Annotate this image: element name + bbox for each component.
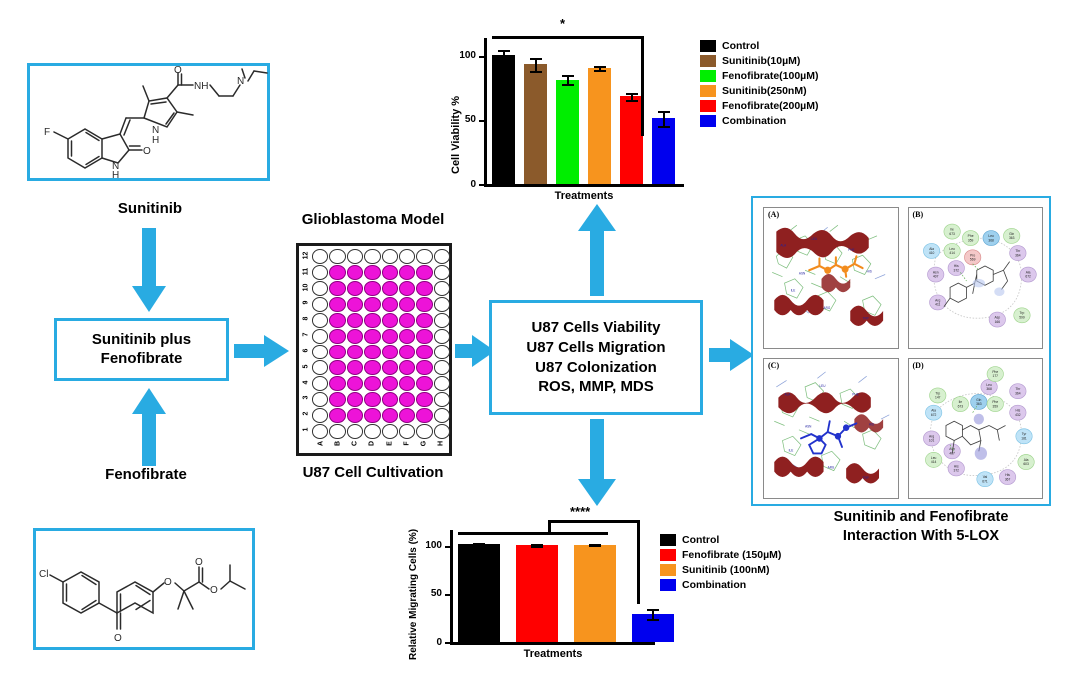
well-empty [312,281,328,296]
assay-line-1: U87 Cells Viability [526,318,665,338]
atom-label-O-oxindole: O [143,146,151,157]
svg-text:ILE: ILE [789,448,794,452]
error-cap-viability-1-1 [530,71,542,73]
fenofibrate-input-label: Fenofibrate [56,466,236,485]
migration-legend-swatch-3 [660,579,676,591]
well-empty [434,392,450,407]
well-filled [416,345,432,360]
well-filled [382,313,398,328]
viability-sig-bracket-horizontal [492,36,644,39]
atom-label-O-ether: O [164,577,172,588]
svg-text:ARG: ARG [824,306,831,310]
sunitinib-structure-svg: F O H N N H O NH N [30,66,269,180]
well-filled [364,376,380,391]
combination-box: Sunitinib plus Fenofibrate [54,318,229,381]
plate-row-label-11: 11 [303,265,310,277]
viability-legend-swatch-1 [700,55,716,67]
error-cap-migration-1-1 [531,546,543,548]
migration-sig-bracket-top [548,520,640,523]
svg-text:TRP: TRP [863,476,869,480]
docking-tag-c: (C) [768,361,779,370]
well-filled [416,360,432,375]
well-filled [347,313,363,328]
plate-col-label-G: G [421,438,428,450]
atom-label-Cl: Cl [39,569,48,580]
well-filled [382,329,398,344]
plate-row-label-2: 2 [303,408,310,420]
bar-viability-3 [588,68,611,184]
viability-legend-swatch-4 [700,100,716,112]
svg-text:359: 359 [992,404,998,408]
svg-text:ASN: ASN [799,271,806,275]
plate-row-label-12: 12 [303,249,310,261]
docking-caption: Sunitinib and Fenofibrate Interaction Wi… [786,508,1056,546]
assay-line-4: ROS, MMP, MDS [526,377,665,397]
combo-line-1: Sunitinib plus [92,331,191,350]
fenofibrate-structure-box: Cl O O O O [33,528,255,650]
migration-legend-label-1: Fenofibrate (150µM) [682,549,781,561]
well-filled [399,376,415,391]
docking-tag-b: (B) [913,210,924,219]
error-cap-viability-2-1 [562,84,574,86]
viability-legend-item-2: Fenofibrate(100µM) [700,70,818,82]
arrow-assay-to-migration-chart [578,419,616,507]
svg-text:673: 673 [949,232,955,236]
svg-text:368: 368 [986,387,992,391]
svg-text:363: 363 [1008,236,1014,240]
arrow-fenofibrate-to-combo [132,388,166,466]
well-empty [312,313,328,328]
viability-legend-swatch-3 [700,85,716,97]
plate-col-label-H: H [438,438,445,450]
well-empty [312,376,328,391]
plate-row-label-3: 3 [303,392,310,404]
svg-text:LEU: LEU [811,237,818,241]
well-filled [364,345,380,360]
error-cap-migration-3-0 [647,609,659,611]
fenofibrate-structure-svg: Cl O O O O [36,531,254,649]
well-filled [329,265,345,280]
plate-col-label-B: B [334,438,341,450]
atom-label-F: F [44,127,50,138]
well-filled [329,376,345,391]
svg-text:372: 372 [953,268,959,272]
viability-x-axis-title: Treatments [484,190,684,202]
docking-image-b: Ala410 Asn407 Arg411 Ile673 Leu414 His37… [909,208,1043,348]
arrow-assay-to-docking [709,339,755,371]
arrow-sunitinib-to-combo [132,228,166,312]
svg-text:603: 603 [1023,462,1029,466]
well-filled [347,408,363,423]
well-filled [364,313,380,328]
migration-legend: ControlFenofibrate (150µM)Sunitinib (100… [660,534,781,594]
migration-legend-item-0: Control [660,534,781,546]
svg-text:ALA: ALA [780,244,787,248]
well-empty [434,376,450,391]
migration-legend-swatch-1 [660,549,676,561]
svg-text:364: 364 [1015,391,1021,395]
svg-text:181: 181 [1021,436,1027,440]
well-empty [434,360,450,375]
well-filled [416,313,432,328]
well-empty [329,249,345,264]
migration-legend-item-1: Fenofibrate (150µM) [660,549,781,561]
viability-legend-label-2: Fenofibrate(100µM) [722,70,818,82]
svg-text:368: 368 [988,238,994,242]
well-filled [416,265,432,280]
error-cap-migration-3-1 [647,619,659,621]
sunitinib-structure-box: F O H N N H O NH N [27,63,270,181]
well-filled [399,360,415,375]
well-filled [347,392,363,407]
well-empty [416,249,432,264]
plate-caption: U87 Cell Cultivation [278,464,468,483]
svg-text:ILE: ILE [791,289,796,293]
well-empty [364,249,380,264]
bar-migration-2 [574,545,616,642]
error-cap-viability-1-0 [530,58,542,60]
well-filled [399,297,415,312]
well-empty [312,408,328,423]
docking-tag-d: (D) [913,361,924,370]
well-filled [347,281,363,296]
well-filled [347,376,363,391]
plate-row-label-7: 7 [303,329,310,341]
docking-tag-a: (A) [768,210,779,219]
svg-text:LEU: LEU [819,383,826,387]
error-cap-migration-2-1 [589,545,601,547]
svg-text:414: 414 [930,460,936,464]
atom-label-H-pyrrole: H [152,135,159,146]
atom-label-O-ester: O [210,585,218,596]
error-cap-viability-0-0 [498,50,510,52]
well-filled [347,265,363,280]
well-plate: 121110987654321 ABCDEFGH [296,243,452,456]
well-empty [312,297,328,312]
viability-legend-item-4: Fenofibrate(200µM) [700,100,818,112]
error-cap-viability-4-1 [626,100,638,102]
error-cap-migration-0-1 [473,544,485,546]
bar-viability-5 [652,118,675,184]
well-empty [347,249,363,264]
assay-box: U87 Cells ViabilityU87 Cells MigrationU8… [489,300,703,415]
docking-cell-c[interactable]: (C) [763,358,899,500]
migration-legend-swatch-0 [660,534,676,546]
well-empty [434,329,450,344]
docking-cell-a[interactable]: (A) [763,207,899,349]
viability-legend-item-0: Control [700,40,818,52]
well-filled [382,281,398,296]
well-filled [329,297,345,312]
well-filled [382,297,398,312]
error-cap-viability-4-0 [626,93,638,95]
viability-legend: ControlSunitinib(10µM)Fenofibrate(100µM)… [700,40,818,130]
docking-cell-b[interactable]: (B) Ala410 Asn407 Arg411 Ile673 Leu414 H… [908,207,1044,349]
well-filled [364,281,380,296]
bar-viability-4 [620,96,643,184]
svg-text:ALA: ALA [785,392,792,396]
error-cap-viability-0-1 [498,60,510,62]
svg-text:672: 672 [930,412,936,416]
well-filled [399,281,415,296]
svg-text:367: 367 [1004,477,1010,481]
svg-text:101: 101 [928,438,934,442]
atom-label-O-ketone: O [114,633,122,644]
well-filled [364,297,380,312]
error-cap-viability-5-1 [658,126,670,128]
plate-row-label-9: 9 [303,297,310,309]
error-bar-viability-5 [663,111,665,126]
docking-panel: (A) [751,196,1051,506]
svg-text:TRP: TRP [863,317,869,321]
svg-text:ARG: ARG [828,465,835,469]
docking-cell-d[interactable]: (D) Ala672 Trp147 Arg101 Leu414 Asn407 H… [908,358,1044,500]
well-filled [347,329,363,344]
migration-chart: Relative Migrating Cells (%) 0 50 100 **… [398,512,818,682]
migration-legend-item-2: Sunitinib (100nM) [660,564,781,576]
svg-text:407: 407 [932,275,938,279]
arrow-assay-to-viability-chart [578,204,616,296]
viability-legend-label-1: Sunitinib(10µM) [722,55,800,67]
error-cap-viability-5-0 [658,111,670,113]
migration-legend-item-3: Combination [660,579,781,591]
svg-text:410: 410 [928,251,934,255]
well-empty [434,249,450,264]
well-empty [434,265,450,280]
plate-row-label-10: 10 [303,281,310,293]
well-filled [382,345,398,360]
well-filled [399,329,415,344]
bar-viability-0 [492,55,515,184]
well-filled [382,392,398,407]
well-empty [312,360,328,375]
well-empty [434,345,450,360]
plate-row-label-5: 5 [303,360,310,372]
well-filled [347,297,363,312]
docking-image-d: Ala672 Trp147 Arg101 Leu414 Asn407 His37… [909,359,1043,499]
well-empty [312,345,328,360]
plate-col-label-D: D [369,438,376,450]
svg-text:166: 166 [994,320,1000,324]
atom-label-N-oxindole: N [112,161,119,172]
well-filled [364,329,380,344]
error-cap-viability-3-0 [594,66,606,68]
well-empty [382,249,398,264]
migration-significance-label: **** [570,504,590,519]
svg-text:372: 372 [953,468,959,472]
plate-col-label-C: C [352,438,359,450]
arrow-combo-to-plate [234,335,290,367]
svg-text:ASN: ASN [805,424,812,428]
well-filled [364,408,380,423]
svg-text:671: 671 [982,479,988,483]
svg-text:359: 359 [967,238,973,242]
viability-legend-label-0: Control [722,40,759,52]
well-empty [312,392,328,407]
well-filled [382,360,398,375]
viability-legend-swatch-2 [700,70,716,82]
well-filled [416,376,432,391]
atom-label-O-amide: O [174,66,182,76]
viability-sig-bracket-vertical [641,36,644,136]
well-filled [416,281,432,296]
plate-col-label-F: F [403,438,410,450]
well-filled [416,392,432,407]
viability-legend-item-1: Sunitinib(10µM) [700,55,818,67]
bar-migration-1 [516,545,558,642]
migration-legend-label-3: Combination [682,579,746,591]
well-filled [329,345,345,360]
bar-viability-1 [524,64,547,184]
viability-legend-item-3: Sunitinib(250nM) [700,85,818,97]
migration-legend-label-2: Sunitinib (100nM) [682,564,770,576]
combo-line-2: Fenofibrate [92,350,191,369]
well-filled [364,360,380,375]
atom-label-N-amine: N [237,76,244,87]
well-empty [312,265,328,280]
migration-legend-swatch-2 [660,564,676,576]
well-filled [399,345,415,360]
well-filled [347,345,363,360]
well-filled [329,408,345,423]
error-cap-viability-3-1 [594,70,606,72]
svg-text:HIS: HIS [867,269,872,273]
well-filled [329,360,345,375]
atom-label-NH-amide: NH [194,81,208,92]
svg-text:569: 569 [969,258,975,262]
svg-text:411: 411 [935,303,940,307]
well-empty [434,281,450,296]
atom-label-O-carbonyl: O [195,557,203,568]
docking-grid: (A) [763,207,1043,499]
migration-x-axis-title: Treatments [453,648,653,660]
plate-col-label-E: E [386,438,393,450]
error-cap-viability-2-0 [562,75,574,77]
svg-text:673: 673 [957,404,963,408]
svg-text:PHE: PHE [848,248,854,252]
docking-image-a: ALALEU PHEHIS ILEARG TRPASN [764,208,898,348]
migration-legend-label-0: Control [682,534,719,546]
well-filled [364,265,380,280]
plate-row-label-4: 4 [303,376,310,388]
well-filled [416,297,432,312]
well-filled [382,408,398,423]
viability-significance-label: * [560,16,565,31]
well-filled [399,392,415,407]
svg-text:599: 599 [1019,315,1025,319]
cell-viability-chart: Cell Viability % 0 50 100 * Treatments C… [434,14,834,209]
plate-row-label-8: 8 [303,313,310,325]
svg-text:414: 414 [949,251,955,255]
svg-text:PHE: PHE [852,392,858,396]
viability-legend-swatch-0 [700,40,716,52]
well-empty [434,313,450,328]
assay-line-3: U87 Colonization [526,358,665,378]
viability-legend-label-3: Sunitinib(250nM) [722,85,807,97]
svg-text:432: 432 [1015,412,1021,416]
docking-caption-line-2: Interaction With 5-LOX [786,527,1056,546]
well-empty [434,297,450,312]
viability-legend-label-4: Fenofibrate(200µM) [722,100,818,112]
well-filled [399,313,415,328]
well-empty [312,249,328,264]
viability-legend-swatch-5 [700,115,716,127]
svg-text:177: 177 [992,374,998,378]
svg-text:672: 672 [1025,275,1031,279]
well-filled [382,376,398,391]
well-empty [312,329,328,344]
plate-title: Glioblastoma Model [278,211,468,230]
docking-image-c: ALALEU PHEHIS ILEARG TRPASN [764,359,898,499]
plate-col-label-A: A [317,438,324,450]
well-plate-grid [312,249,450,439]
bar-migration-0 [458,544,500,642]
well-filled [329,281,345,296]
well-filled [382,265,398,280]
docking-caption-line-1: Sunitinib and Fenofibrate [786,508,1056,527]
well-empty [399,249,415,264]
sunitinib-input-label: Sunitinib [60,200,240,219]
well-filled [416,329,432,344]
well-filled [329,313,345,328]
plate-row-label-1: 1 [303,424,310,436]
bar-viability-2 [556,80,579,184]
migration-sig-bracket-vertical [637,520,640,604]
viability-legend-label-5: Combination [722,115,786,127]
well-filled [347,360,363,375]
well-empty [434,408,450,423]
well-filled [329,329,345,344]
assay-line-2: U87 Cells Migration [526,338,665,358]
well-filled [416,408,432,423]
well-filled [399,265,415,280]
well-filled [399,408,415,423]
svg-text:364: 364 [1015,253,1021,257]
viability-legend-item-5: Combination [700,115,818,127]
svg-text:HIS: HIS [869,422,874,426]
well-filled [364,392,380,407]
svg-text:363: 363 [976,402,982,406]
migration-sig-bracket-horizontal [458,532,608,535]
well-filled [329,392,345,407]
svg-text:147: 147 [935,395,941,399]
plate-row-label-6: 6 [303,344,310,356]
